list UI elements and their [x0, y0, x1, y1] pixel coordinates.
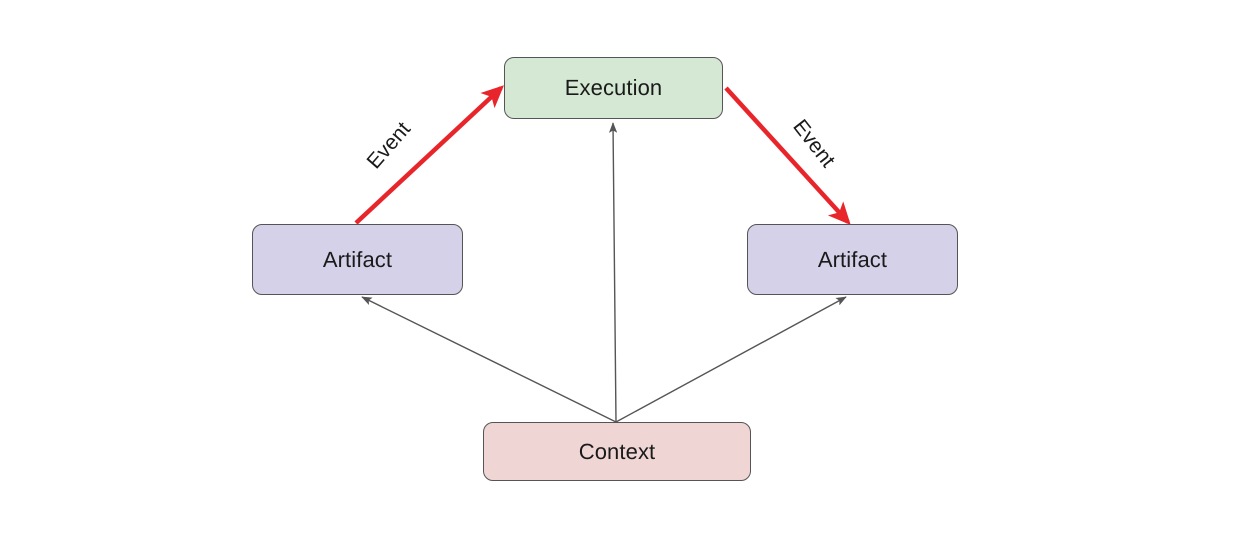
node-execution[interactable]: Execution	[504, 57, 723, 119]
node-artifact-right[interactable]: Artifact	[747, 224, 958, 295]
node-context[interactable]: Context	[483, 422, 751, 481]
node-execution-label: Execution	[565, 77, 663, 99]
diagram-canvas: Execution Artifact Artifact Context Even…	[0, 0, 1236, 542]
node-artifact-left[interactable]: Artifact	[252, 224, 463, 295]
edge-label-event-left: Event	[363, 118, 414, 172]
node-context-label: Context	[579, 441, 656, 463]
node-artifact-right-label: Artifact	[818, 249, 887, 271]
edge-label-event-right: Event	[789, 116, 839, 171]
edge-context-to-execution	[613, 123, 616, 422]
edge-context-to-artifact-right	[616, 297, 846, 422]
node-artifact-left-label: Artifact	[323, 249, 392, 271]
edge-context-to-artifact-left	[362, 297, 616, 422]
